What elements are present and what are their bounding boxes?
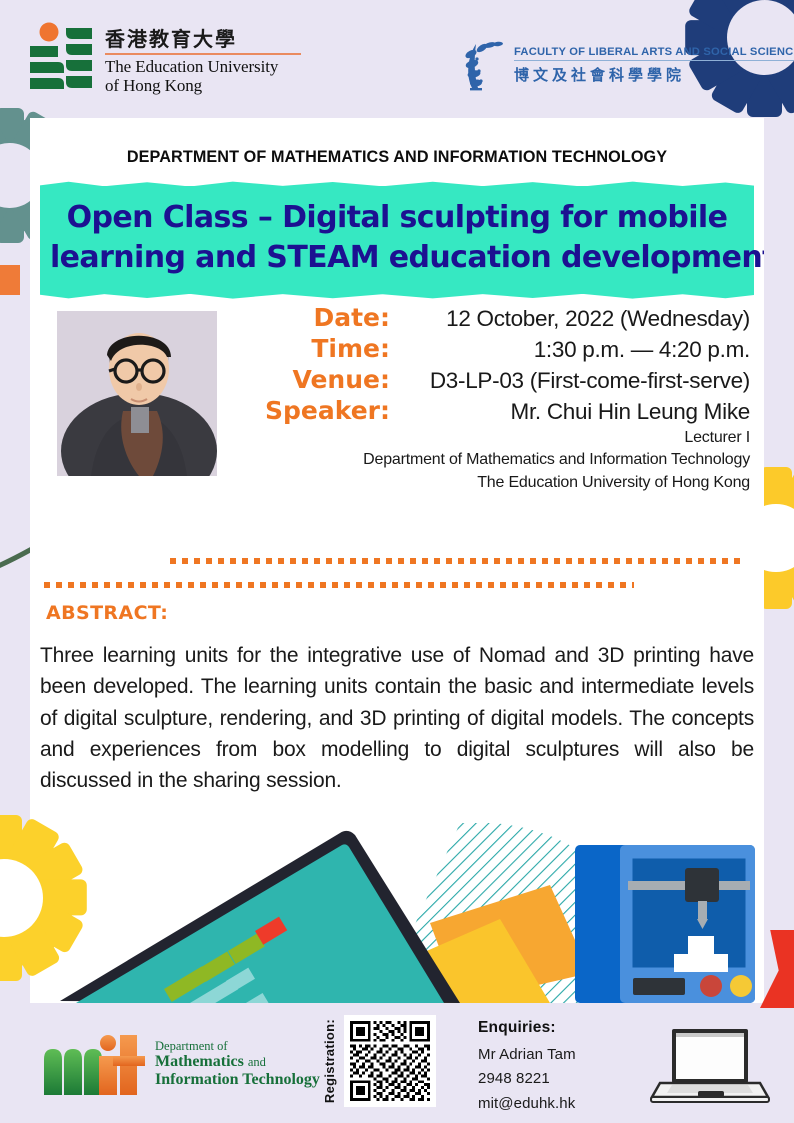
mit-line1: Department of	[155, 1039, 320, 1053]
eduhk-logo: 香港教育大學 The Education University of Hong …	[28, 22, 301, 96]
3d-printer-icon	[575, 845, 755, 1003]
time-value: 1:30 p.m. — 4:20 p.m.	[404, 337, 750, 363]
event-details: Date: 12 October, 2022 (Wednesday) Time:…	[230, 303, 750, 494]
enquiries-email[interactable]: mit@eduhk.hk	[478, 1092, 576, 1116]
poster-footer: Department of Mathematics and Informatio…	[0, 1003, 794, 1123]
laptop-icon	[650, 1025, 770, 1105]
detail-row-speaker: Speaker: Mr. Chui Hin Leung Mike	[230, 396, 750, 425]
poster-title-line1: Open Class – Digital sculpting for mobil…	[50, 198, 744, 238]
speaker-university: The Education University of Hong Kong	[230, 472, 750, 494]
time-label: Time:	[230, 334, 404, 363]
laurel-wreath-icon	[462, 38, 508, 92]
speaker-portrait-illustration	[57, 311, 217, 476]
mit-line2-suffix: and	[248, 1055, 266, 1069]
date-value: 12 October, 2022 (Wednesday)	[404, 306, 750, 332]
enquiries-name: Mr Adrian Tam	[478, 1043, 576, 1067]
qr-code-icon[interactable]	[344, 1015, 436, 1107]
detail-row-date: Date: 12 October, 2022 (Wednesday)	[230, 303, 750, 332]
eduhk-divider	[105, 53, 301, 55]
mit-logo: Department of Mathematics and Informatio…	[42, 1033, 320, 1095]
poster-title-band: Open Class – Digital sculpting for mobil…	[40, 186, 754, 294]
speaker-title: Lecturer I	[230, 427, 750, 449]
department-heading: DEPARTMENT OF MATHEMATICS AND INFORMATIO…	[30, 148, 764, 167]
abstract-heading: ABSTRACT:	[46, 602, 168, 624]
mit-line2-main: Mathematics	[155, 1053, 244, 1070]
faculty-english-name: FACULTY OF LIBERAL ARTS AND SOCIAL SCIEN…	[514, 46, 794, 58]
date-label: Date:	[230, 303, 404, 332]
speaker-label: Speaker:	[230, 396, 404, 425]
faculty-chinese-name: 博文及社會科學學院	[514, 64, 794, 85]
mit-line2: Mathematics and	[155, 1053, 320, 1071]
dotted-divider-top	[170, 558, 746, 564]
registration-label: Registration:	[322, 1019, 337, 1103]
speaker-department: Department of Mathematics and Informatio…	[230, 449, 750, 471]
faculty-wordmark: FACULTY OF LIBERAL ARTS AND SOCIAL SCIEN…	[514, 46, 794, 85]
eduhk-leaf-logo-icon	[28, 22, 94, 96]
gear-icon-yellow-left	[0, 828, 74, 968]
eduhk-english-line1: The Education University	[105, 57, 301, 76]
decorative-orange-square	[0, 265, 20, 295]
bottom-illustration	[30, 823, 764, 1003]
faculty-divider	[514, 60, 794, 61]
mit-line3: Information Technology	[155, 1071, 320, 1089]
enquiries-phone: 2948 8221	[478, 1067, 576, 1091]
decorative-red-shape	[760, 930, 794, 1008]
detail-row-time: Time: 1:30 p.m. — 4:20 p.m.	[230, 334, 750, 363]
poster-content-card: DEPARTMENT OF MATHEMATICS AND INFORMATIO…	[30, 118, 764, 1003]
dotted-divider-bottom	[44, 582, 634, 588]
speaker-photo	[57, 311, 217, 476]
poster-header: 香港教育大學 The Education University of Hong …	[0, 0, 794, 118]
faculty-logo: FACULTY OF LIBERAL ARTS AND SOCIAL SCIEN…	[462, 38, 794, 92]
venue-value: D3-LP-03 (First-come-first-serve)	[404, 368, 750, 394]
eduhk-chinese-name: 香港教育大學	[105, 28, 301, 50]
enquiries-title: Enquiries:	[478, 1019, 576, 1037]
eduhk-wordmark: 香港教育大學 The Education University of Hong …	[105, 22, 301, 95]
poster-title-line2: learning and STEAM education development	[50, 238, 744, 278]
enquiries-block: Enquiries: Mr Adrian Tam 2948 8221 mit@e…	[478, 1019, 576, 1116]
mit-wordmark: Department of Mathematics and Informatio…	[155, 1039, 320, 1089]
venue-label: Venue:	[230, 365, 404, 394]
detail-row-venue: Venue: D3-LP-03 (First-come-first-serve)	[230, 365, 750, 394]
speaker-value: Mr. Chui Hin Leung Mike	[404, 399, 750, 425]
abstract-text: Three learning units for the integrative…	[40, 640, 754, 796]
eduhk-english-line2: of Hong Kong	[105, 76, 301, 95]
mit-logo-icon	[42, 1033, 147, 1095]
registration-block[interactable]: Registration:	[322, 1015, 436, 1107]
